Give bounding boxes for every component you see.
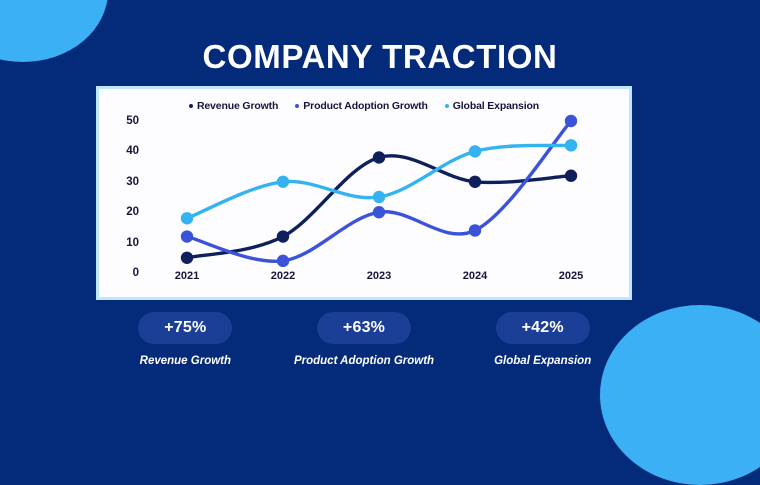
data-point[interactable] (469, 224, 481, 236)
stat-revenue-growth: +75% Revenue Growth (96, 312, 275, 367)
x-axis-tick: 2024 (463, 270, 487, 282)
chart-card: Revenue Growth Product Adoption Growth G… (96, 86, 632, 300)
stat-caption: Revenue Growth (140, 355, 231, 367)
data-point[interactable] (565, 139, 577, 151)
x-axis-tick: 2025 (559, 270, 583, 282)
slide: COMPANY TRACTION Revenue Growth Product … (0, 0, 760, 425)
status-badge: +63% (317, 312, 411, 344)
x-axis-tick: 2022 (271, 270, 295, 282)
data-point[interactable] (277, 255, 289, 267)
data-point[interactable] (565, 115, 577, 127)
data-point[interactable] (181, 230, 193, 242)
data-point[interactable] (565, 170, 577, 182)
x-axis-tick: 2021 (175, 270, 199, 282)
page-title: COMPANY TRACTION (0, 0, 760, 76)
data-point[interactable] (373, 151, 385, 163)
line-chart-svg (99, 89, 629, 297)
data-point[interactable] (181, 252, 193, 264)
data-point[interactable] (181, 212, 193, 224)
stat-caption: Product Adoption Growth (294, 355, 434, 367)
status-badge: +75% (138, 312, 232, 344)
data-point[interactable] (469, 176, 481, 188)
data-point[interactable] (373, 191, 385, 203)
data-point[interactable] (469, 145, 481, 157)
status-badge: +42% (496, 312, 590, 344)
data-point[interactable] (277, 176, 289, 188)
stat-global-expansion: +42% Global Expansion (453, 312, 632, 367)
stat-caption: Global Expansion (494, 355, 591, 367)
stat-product-adoption-growth: +63% Product Adoption Growth (275, 312, 454, 367)
chart-plot-area: 01020304050 20212022202320242025 (99, 89, 629, 297)
x-axis-tick: 2023 (367, 270, 391, 282)
stats-row: +75% Revenue Growth +63% Product Adoptio… (96, 312, 632, 367)
data-point[interactable] (373, 206, 385, 218)
data-point[interactable] (277, 230, 289, 242)
x-axis-labels: 20212022202320242025 (145, 270, 623, 286)
